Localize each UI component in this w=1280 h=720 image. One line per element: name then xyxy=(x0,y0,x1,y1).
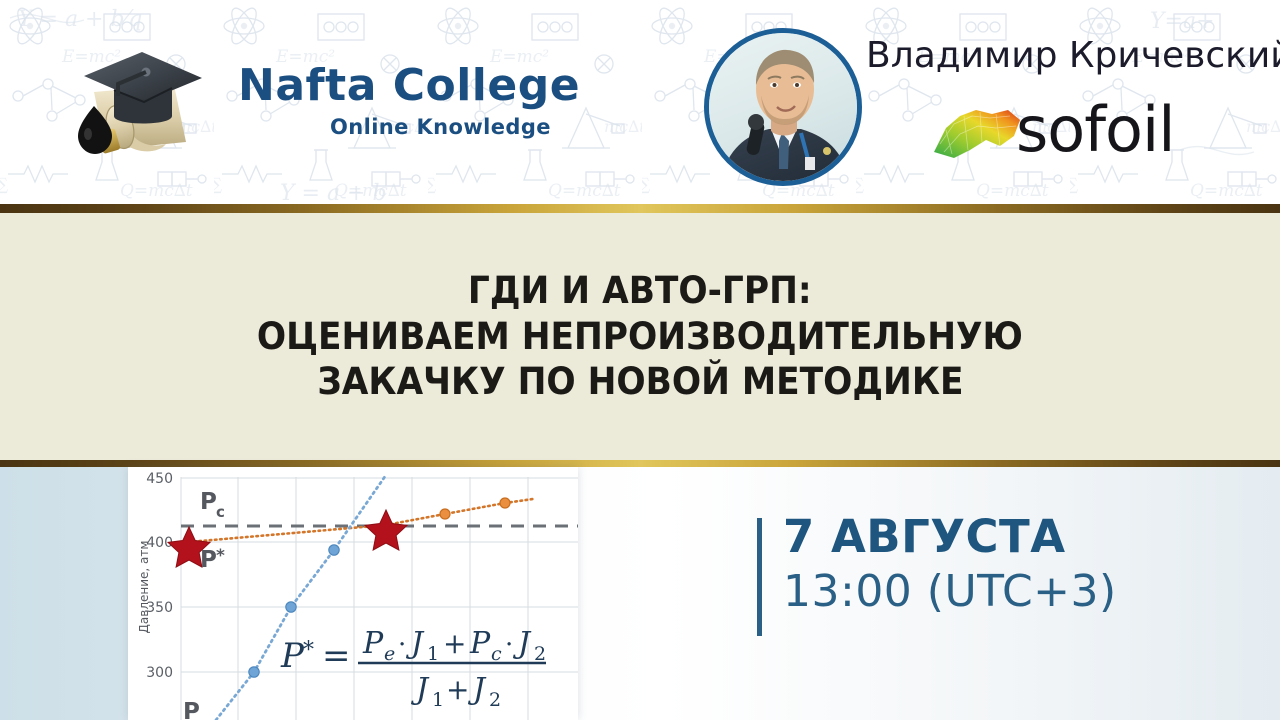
svg-text:2: 2 xyxy=(489,689,501,711)
title-line-3: ЗАКАЧКУ ПО НОВОЙ МЕТОДИКЕ xyxy=(317,362,963,402)
sofoil-wordmark: sofoil xyxy=(1016,93,1174,166)
blue-point xyxy=(329,545,339,555)
y-axis-label: Давление, атм xyxy=(137,541,151,634)
y-tick-300: 300 xyxy=(146,665,173,681)
blue-point xyxy=(286,602,296,612)
svg-text:P: P xyxy=(362,626,384,661)
svg-text:·: · xyxy=(398,630,406,660)
pressure-chart-panel: 450 400 350 300 Давление, атм xyxy=(128,467,578,720)
speaker-avatar xyxy=(704,28,862,186)
label-p-star: P xyxy=(200,547,217,573)
bottom-section: 450 400 350 300 Давление, атм xyxy=(0,467,1280,720)
event-time: 13:00 (UTC+3) xyxy=(783,566,1117,617)
page-title: ГДИ И АВТО-ГРП: ОЦЕНИВАЕМ НЕПРОИЗВОДИТЕЛ… xyxy=(0,213,1280,460)
sofoil-terrain-heatmap-icon xyxy=(930,106,1026,164)
title-line-2: ОЦЕНИВАЕМ НЕПРОИЗВОДИТЕЛЬНУЮ xyxy=(257,317,1023,357)
svg-text:1: 1 xyxy=(432,689,444,711)
blue-point xyxy=(249,667,259,677)
svg-text:P: P xyxy=(280,636,305,676)
orange-point xyxy=(500,498,510,508)
pressure-chart: 450 400 350 300 Давление, атм xyxy=(128,467,578,720)
label-pc: P xyxy=(200,489,217,515)
event-date: 7 АВГУСТА xyxy=(783,510,1066,563)
nafta-college-logo-icon xyxy=(62,30,222,175)
svg-text:·: · xyxy=(505,630,513,660)
schedule-accent-rule xyxy=(757,518,762,636)
svg-text:+: + xyxy=(446,673,469,706)
label-p-star-sup: * xyxy=(216,546,225,566)
divider-band-top xyxy=(0,204,1280,213)
svg-text:+: + xyxy=(443,627,466,660)
label-p-bottom: P xyxy=(183,699,200,720)
y-tick-450: 450 xyxy=(146,471,173,487)
speaker-name: Владимир Кричевский xyxy=(866,35,1280,76)
college-tagline: Online Knowledge xyxy=(330,115,551,139)
svg-text:*: * xyxy=(303,638,314,663)
orange-point xyxy=(440,509,450,519)
svg-text:P: P xyxy=(469,626,491,661)
college-name: Nafta College xyxy=(238,60,580,111)
header: E=mc² Q=mc∆t ∑ mc∆t Y = a + b⁄q Y=a+ Y xyxy=(0,0,1280,205)
title-line-1: ГДИ И АВТО-ГРП: xyxy=(468,271,812,311)
svg-text:=: = xyxy=(322,636,351,676)
title-band: ГДИ И АВТО-ГРП: ОЦЕНИВАЕМ НЕПРОИЗВОДИТЕЛ… xyxy=(0,213,1280,460)
label-pc-sub: c xyxy=(216,503,225,521)
webinar-poster: E=mc² Q=mc∆t ∑ mc∆t Y = a + b⁄q Y=a+ Y xyxy=(0,0,1280,720)
